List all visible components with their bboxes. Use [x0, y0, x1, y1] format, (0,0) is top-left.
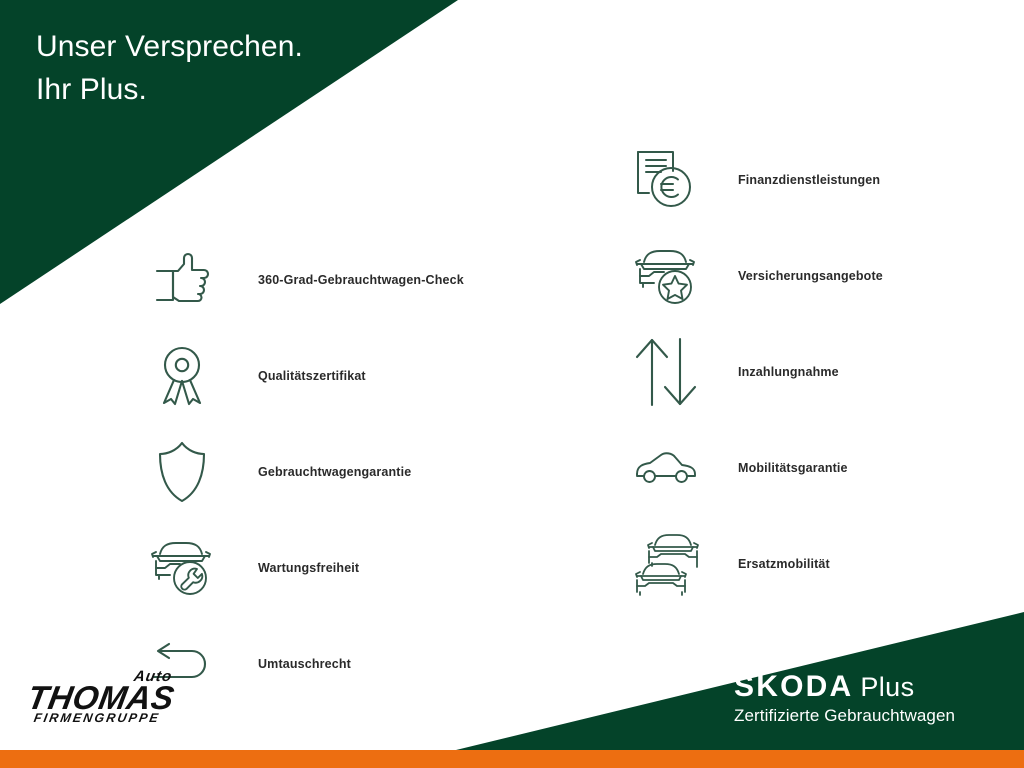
feature-label: Qualitätszertifikat: [258, 369, 366, 383]
brand-suffix: Plus: [860, 672, 914, 702]
feature-item-warranty[interactable]: Gebrauchtwagengarantie: [150, 424, 464, 520]
feature-label: Mobilitätsgarantie: [738, 461, 848, 475]
feature-item-trade-in[interactable]: Inzahlungnahme: [634, 324, 883, 420]
document-euro-icon: [634, 148, 698, 212]
feature-label: Finanzdienstleistungen: [738, 173, 880, 187]
car-side-icon: [634, 436, 698, 500]
brand-name: ŠKODA: [734, 670, 853, 703]
two-cars-icon: [634, 532, 698, 596]
up-down-arrows-icon: [634, 340, 698, 404]
brand-title-row: ŠKODAPlus: [734, 672, 996, 702]
car-wrench-icon: [150, 536, 214, 600]
feature-item-insurance[interactable]: Versicherungsangebote: [634, 228, 883, 324]
award-rosette-icon: [150, 344, 214, 408]
feature-label: Gebrauchtwagengarantie: [258, 465, 411, 479]
feature-item-mobility-guarantee[interactable]: Mobilitätsgarantie: [634, 420, 883, 516]
feature-label: Versicherungsangebote: [738, 269, 883, 283]
brand-subtitle: Zertifizierte Gebrauchtwagen: [734, 706, 996, 726]
dealer-logo-group: FIRMENGRUPPE: [33, 711, 161, 725]
feature-label: Inzahlungnahme: [738, 365, 839, 379]
feature-label: Umtauschrecht: [258, 657, 351, 671]
headline-line-2: Ihr Plus.: [36, 69, 303, 112]
feature-item-maintenance[interactable]: Wartungsfreiheit: [150, 520, 464, 616]
feature-label: Wartungsfreiheit: [258, 561, 359, 575]
feature-item-check[interactable]: 360-Grad-Gebrauchtwagen-Check: [150, 232, 464, 328]
feature-list-right: Finanzdienstleistungen Versicherungsange…: [634, 132, 883, 612]
feature-label: 360-Grad-Gebrauchtwagen-Check: [258, 273, 464, 287]
feature-item-replacement-mobility[interactable]: Ersatzmobilität: [634, 516, 883, 612]
car-star-icon: [634, 244, 698, 308]
headline-line-1: Unser Versprechen.: [36, 26, 303, 69]
feature-item-financial-services[interactable]: Finanzdienstleistungen: [634, 132, 883, 228]
feature-label: Ersatzmobilität: [738, 557, 830, 571]
thumbs-up-icon: [150, 248, 214, 312]
page-headline: Unser Versprechen. Ihr Plus.: [36, 26, 303, 111]
feature-list-left: 360-Grad-Gebrauchtwagen-Check Qualitätsz…: [150, 232, 464, 712]
orange-footer-bar: [0, 750, 1024, 768]
dealer-logo[interactable]: Auto THOMAS FIRMENGRUPPE: [28, 668, 208, 730]
brand-lockup: ŠKODAPlus Zertifizierte Gebrauchtwagen: [734, 672, 996, 726]
feature-item-quality-certificate[interactable]: Qualitätszertifikat: [150, 328, 464, 424]
shield-icon: [150, 440, 214, 504]
